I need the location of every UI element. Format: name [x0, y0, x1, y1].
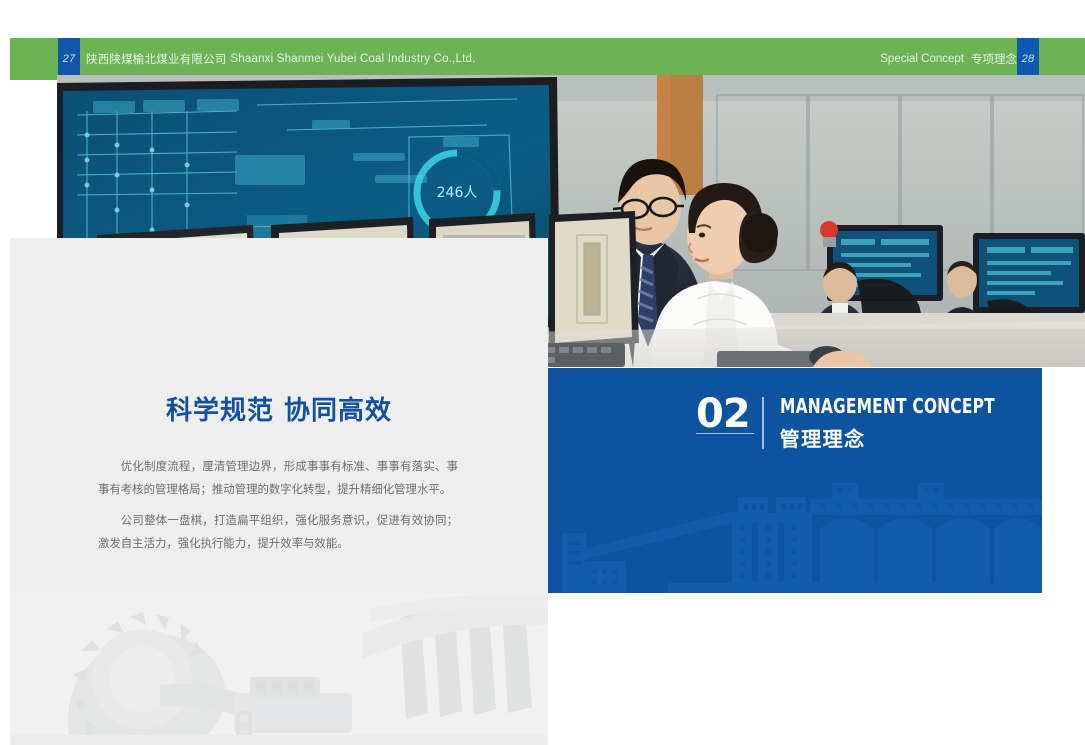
shearer-watermark-illustration [10, 593, 548, 745]
svg-text:246人: 246人 [437, 185, 478, 201]
content-text-block: 科学规范 协同高效 优化制度流程，厘清管理边界，形成事事有标准、事事有落实、事事… [10, 395, 548, 564]
brochure-page: 27 陕西陕煤榆北煤业有限公司 Shaanxi Shanmei Yubei Co… [0, 0, 1085, 745]
header-section-label: Special Concept 专项理念 [880, 38, 1017, 80]
page-number-right: 28 [1017, 38, 1039, 80]
section-number-wrap: 02 [696, 395, 764, 433]
page-title: 科学规范 协同高效 [10, 395, 548, 429]
company-name-en: Shaanxi Shanmei Yubei Coal Industry Co.,… [230, 53, 475, 65]
section-label-cn: 专项理念 [971, 51, 1017, 67]
section-title-en: MANAGEMENT CONCEPT [780, 395, 995, 418]
coal-plant-silhouette-icon [548, 453, 1042, 593]
section-title-cn: 管理理念 [780, 423, 1030, 452]
mining-equipment-watermark [10, 593, 548, 745]
page-number-left: 27 [58, 38, 80, 80]
section-titles: MANAGEMENT CONCEPT 管理理念 [780, 395, 1030, 452]
section-panel: 02 MANAGEMENT CONCEPT 管理理念 [548, 368, 1042, 593]
section-number: 02 [696, 395, 750, 433]
body-paragraph-1: 优化制度流程，厘清管理边界，形成事事有标准、事事有落实、事事有考核的管理格局；推… [10, 455, 548, 501]
company-name-cn: 陕西陕煤榆北煤业有限公司 [86, 51, 226, 67]
body-paragraph-2: 公司整体一盘棋，打造扁平组织，强化服务意识，促进有效协同；激发自主活力，强化执行… [10, 509, 548, 555]
section-divider-horizontal [696, 433, 754, 435]
section-divider-vertical [762, 397, 764, 449]
header-company-name: 陕西陕煤榆北煤业有限公司 Shaanxi Shanmei Yubei Coal … [86, 38, 476, 80]
section-label-en: Special Concept [880, 53, 964, 65]
section-heading: 02 MANAGEMENT CONCEPT 管理理念 [696, 395, 1029, 452]
